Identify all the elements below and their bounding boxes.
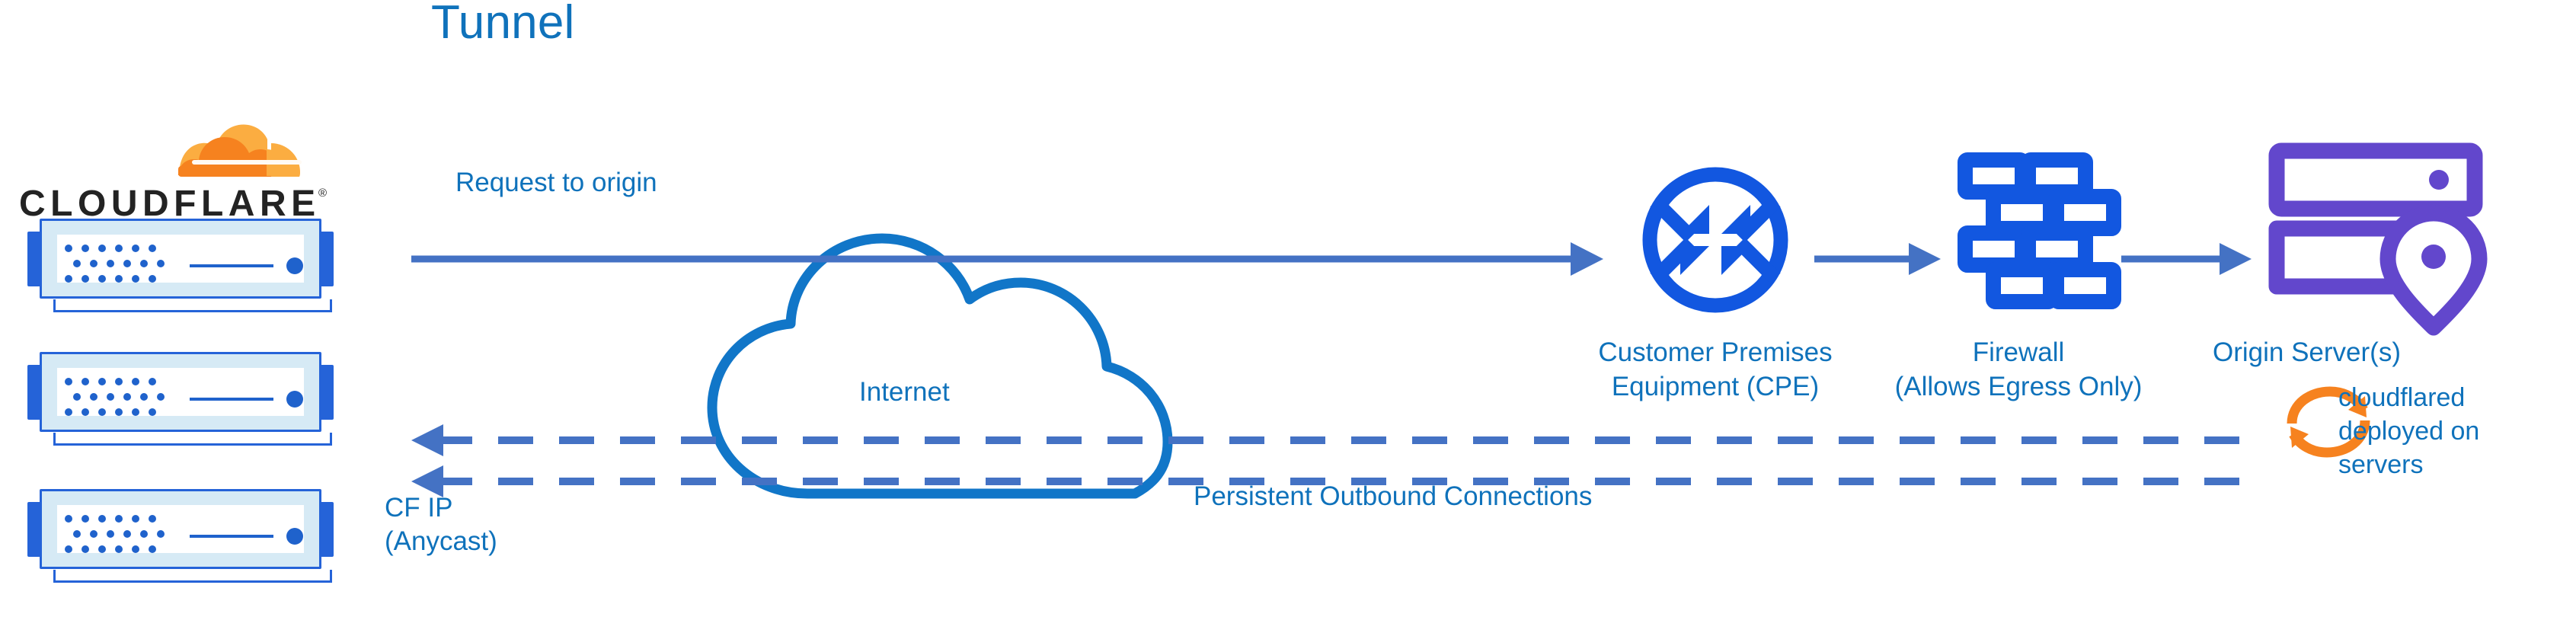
edge-server-unit-1 — [11, 217, 350, 312]
edge-server-unit-2 — [11, 350, 350, 446]
server-status-line — [190, 535, 273, 538]
router-icon — [1650, 174, 1781, 305]
cloudflare-logo-svg: CLOUDFLARE ® — [15, 107, 335, 221]
label-firewall: Firewall (Allows Egress Only) — [1870, 335, 2167, 404]
label-customer-premises-equipment: Customer Premises Equipment (CPE) — [1555, 335, 1875, 404]
cpe-to-firewall-arrow — [1814, 243, 1941, 275]
server-led-indicator — [286, 391, 303, 408]
server-vent-dots-icon — [64, 377, 171, 417]
server-vent-dots-icon — [64, 244, 171, 283]
edge-server-unit-3 — [11, 488, 350, 583]
server-base-shadow — [53, 299, 332, 312]
persistent-outbound-connection-upper — [411, 424, 2239, 456]
label-persistent-outbound-connections: Persistent Outbound Connections — [1194, 481, 1592, 513]
label-cloudflared-deployed-on-servers: cloudflared deployed on servers — [2338, 381, 2479, 481]
label-origin-servers: Origin Server(s) — [2213, 335, 2548, 369]
firewall-to-origin-arrow — [2121, 243, 2252, 275]
label-cf-ip-anycast: CF IP (Anycast) — [385, 491, 497, 558]
cloudflare-logo: CLOUDFLARE ® — [15, 107, 335, 221]
server-status-line — [190, 398, 273, 401]
server-rack-pin-icon — [2277, 151, 2479, 328]
server-led-indicator — [286, 528, 303, 545]
registered-trademark-icon: ® — [318, 187, 327, 200]
server-status-line — [190, 264, 273, 267]
cloudflare-wordmark: CLOUDFLARE — [19, 184, 321, 221]
label-internet: Internet — [859, 376, 950, 408]
tunnel-diagram: Tunnel CLOUDFLARE ® — [0, 0, 2576, 617]
request-to-origin-arrow — [411, 242, 1603, 276]
cloudflare-cloud-mark — [178, 125, 302, 177]
internet-cloud-outline — [712, 238, 1168, 494]
label-request-to-origin: Request to origin — [455, 167, 657, 199]
server-base-shadow — [53, 570, 332, 583]
brick-wall-icon — [1965, 160, 2114, 302]
server-vent-dots-icon — [64, 514, 171, 554]
server-base-shadow — [53, 433, 332, 446]
server-led-indicator — [286, 257, 303, 274]
page-title: Tunnel — [431, 0, 574, 50]
